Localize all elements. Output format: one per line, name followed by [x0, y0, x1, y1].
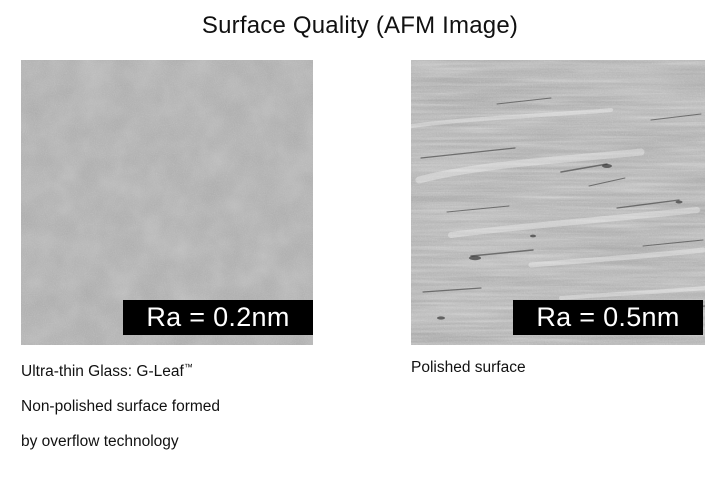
caption-left-line-3: by overflow technology	[21, 424, 220, 459]
trademark-symbol: ™	[184, 362, 193, 372]
caption-right-line-1: Polished surface	[411, 350, 526, 385]
ra-label-right: Ra = 0.5nm	[513, 300, 703, 335]
ra-label-left: Ra = 0.2nm	[123, 300, 313, 335]
page-title: Surface Quality (AFM Image)	[0, 12, 720, 40]
afm-image-left: Ra = 0.2nm	[21, 60, 313, 345]
caption-left-line-1-text: Ultra-thin Glass: G-Leaf	[21, 363, 184, 380]
caption-left-line-1: Ultra-thin Glass: G-Leaf™	[21, 350, 220, 389]
caption-right: Polished surface	[411, 350, 526, 385]
caption-left-line-2: Non-polished surface formed	[21, 389, 220, 424]
afm-image-right: Ra = 0.5nm	[411, 60, 705, 345]
caption-left: Ultra-thin Glass: G-Leaf™ Non-polished s…	[21, 350, 220, 459]
